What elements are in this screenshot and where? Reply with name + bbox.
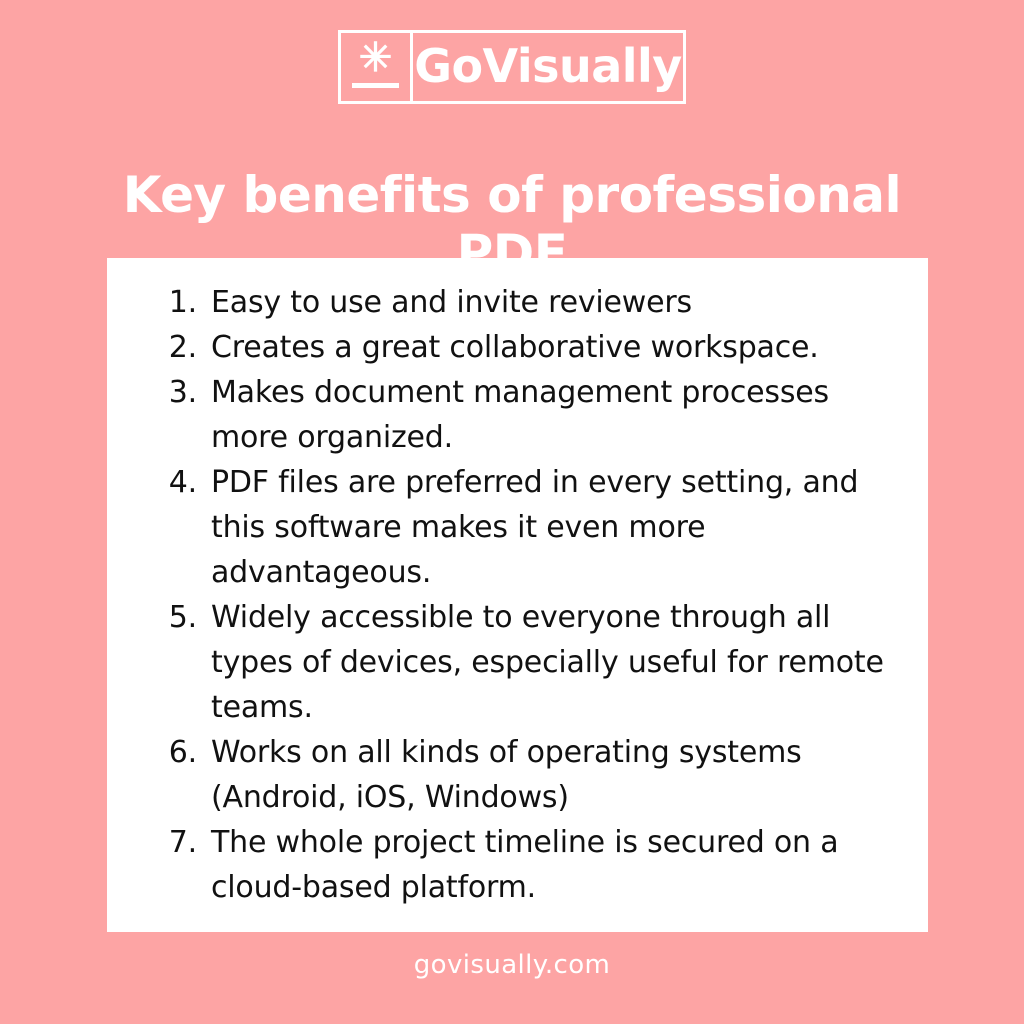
benefits-list: Easy to use and invite reviewers Creates… <box>155 280 902 910</box>
list-item: Creates a great collaborative workspace. <box>155 325 902 370</box>
list-item: The whole project timeline is secured on… <box>155 820 902 910</box>
footer-website-url[interactable]: govisually.com <box>0 950 1024 980</box>
brand-wordmark: GoVisually <box>413 33 683 101</box>
brand-logo-mark: ✳ <box>341 33 413 101</box>
asterisk-icon: ✳ <box>341 39 410 77</box>
benefits-card: Easy to use and invite reviewers Creates… <box>107 258 928 932</box>
list-item: Widely accessible to everyone through al… <box>155 595 902 730</box>
brand-logo[interactable]: ✳ GoVisually <box>338 30 686 104</box>
list-item: Works on all kinds of operating systems … <box>155 730 902 820</box>
underline-rule-icon <box>352 83 399 88</box>
list-item: PDF files are preferred in every setting… <box>155 460 902 595</box>
poster-canvas: { "theme": { "background_color": "#FDA4A… <box>0 0 1024 1024</box>
list-item: Makes document management processes more… <box>155 370 902 460</box>
list-item: Easy to use and invite reviewers <box>155 280 902 325</box>
